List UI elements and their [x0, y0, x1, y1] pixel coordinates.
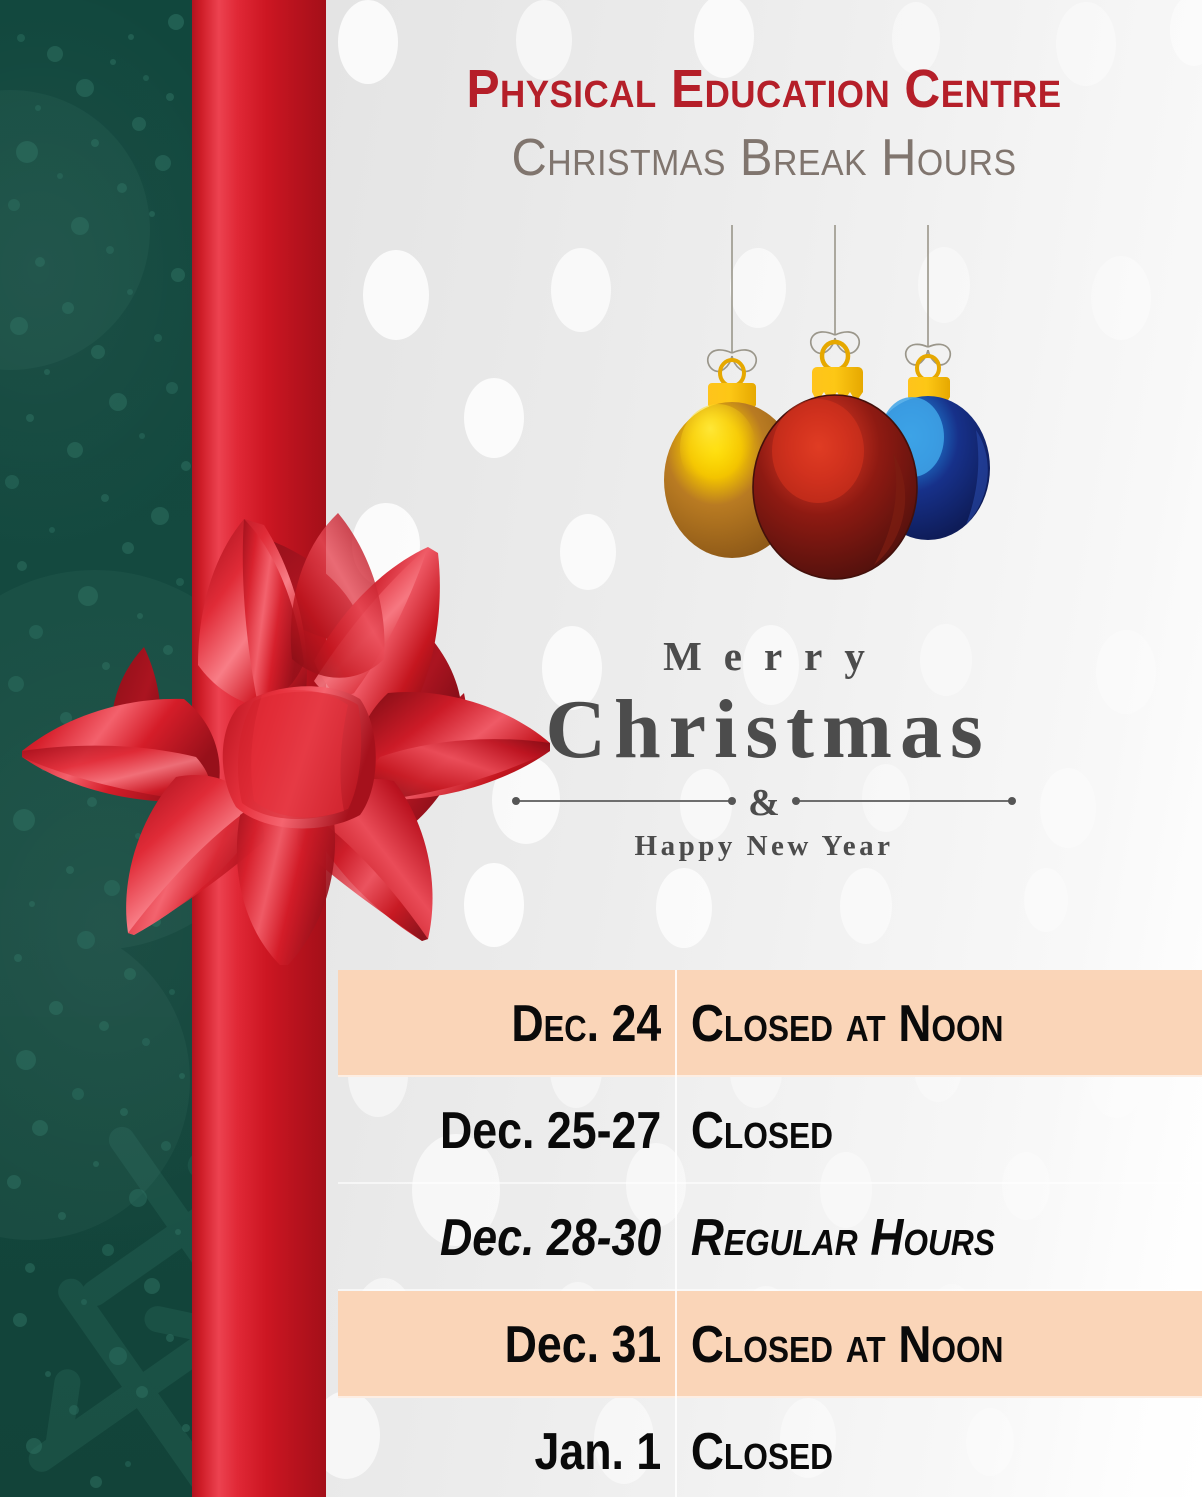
- schedule-date: Dec. 25-27: [385, 1101, 675, 1161]
- schedule-date: Dec. 24: [385, 994, 675, 1054]
- greeting-merry: Merry: [326, 632, 1202, 680]
- page-title: Physical Education Centre: [361, 58, 1167, 120]
- hours-schedule-table: Dec. 24 Closed at Noon Dec. 25-27 Closed…: [338, 970, 1202, 1497]
- poster-header: Physical Education Centre Christmas Brea…: [326, 0, 1202, 188]
- table-row: Dec. 28-30 Regular Hours: [338, 1184, 1202, 1291]
- schedule-note: Closed at Noon: [675, 994, 1139, 1054]
- red-ornament: [753, 342, 917, 579]
- christmas-hours-poster: Physical Education Centre Christmas Brea…: [0, 0, 1202, 1497]
- schedule-note: Closed: [675, 1101, 1139, 1161]
- schedule-date: Dec. 28-30: [385, 1208, 675, 1268]
- christmas-ornaments-group: [650, 225, 1020, 595]
- schedule-date: Jan. 1: [385, 1422, 675, 1482]
- greeting-happy-new-year: Happy New Year: [326, 830, 1202, 863]
- schedule-note: Closed at Noon: [675, 1315, 1139, 1375]
- divider-line-right: [794, 800, 1014, 802]
- schedule-date: Dec. 31: [385, 1315, 675, 1375]
- schedule-note: Regular Hours: [675, 1208, 1139, 1268]
- merry-christmas-lockup: Merry Christmas & Happy New Year: [326, 632, 1202, 863]
- divider-line-left: [514, 800, 734, 802]
- page-subtitle: Christmas Break Hours: [352, 128, 1175, 188]
- table-row: Dec. 31 Closed at Noon: [338, 1291, 1202, 1398]
- table-row: Jan. 1 Closed: [338, 1398, 1202, 1497]
- ornament-wire-bows: [708, 332, 951, 371]
- schedule-note: Closed: [675, 1422, 1139, 1482]
- table-row: Dec. 25-27 Closed: [338, 1077, 1202, 1184]
- greeting-christmas: Christmas: [326, 686, 1202, 774]
- ampersand-glyph: &: [748, 784, 780, 822]
- greeting-ampersand-row: &: [326, 782, 1202, 820]
- table-row: Dec. 24 Closed at Noon: [338, 970, 1202, 1077]
